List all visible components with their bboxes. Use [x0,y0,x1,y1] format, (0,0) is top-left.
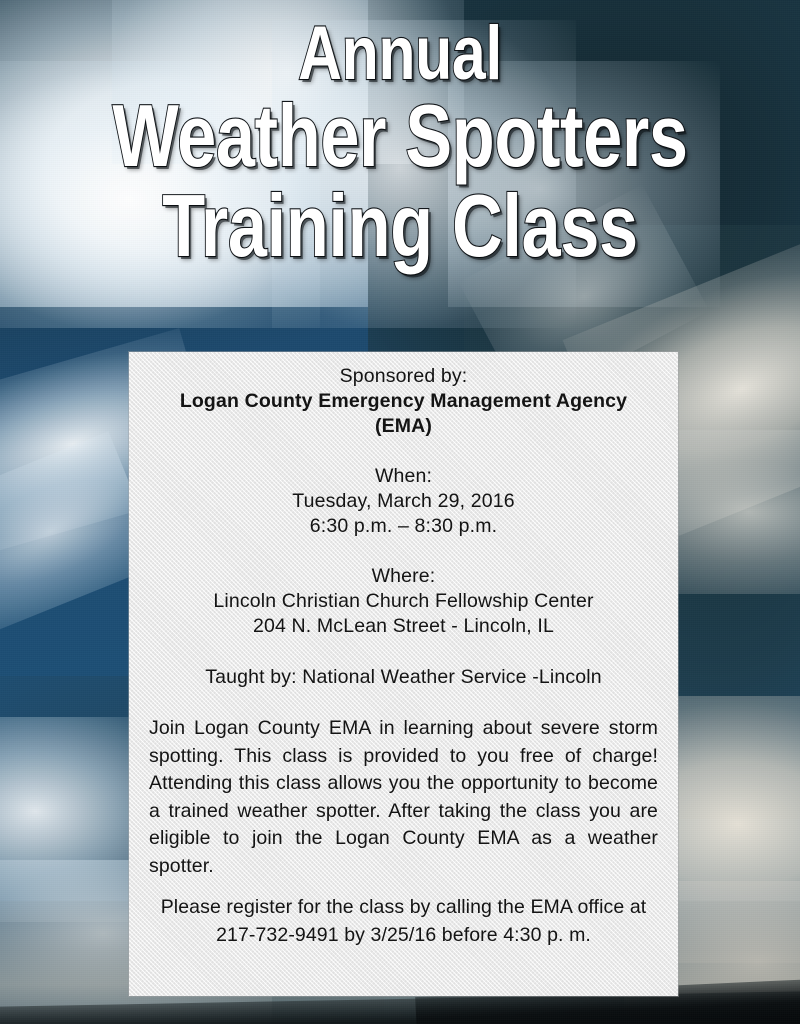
details-panel: Sponsored by: Logan County Emergency Man… [129,352,678,996]
title-line-2: Weather Spotters [80,94,720,178]
spacer-after-taught-by [147,690,660,715]
where-venue: Lincoln Christian Church Fellowship Cent… [147,589,660,614]
title-line-3: Training Class [80,184,720,268]
sponsor-abbreviation: (EMA) [147,414,660,439]
taught-by-line: Taught by: National Weather Service -Lin… [147,664,660,690]
spacer-before-register [147,880,660,894]
spacer-after-when [147,539,660,564]
flyer-page: Annual Weather Spotters Training Class S… [0,0,800,1024]
title-line-1: Annual [80,18,720,90]
spacer-after-where [147,639,660,664]
when-date: Tuesday, March 29, 2016 [147,489,660,514]
when-label: When: [147,464,660,489]
body-paragraph: Join Logan County EMA in learning about … [147,715,660,880]
when-time: 6:30 p.m. – 8:30 p.m. [147,514,660,539]
sponsored-by-label: Sponsored by: [147,364,660,389]
where-address: 204 N. McLean Street - Lincoln, IL [147,614,660,639]
spacer-after-sponsor [147,439,660,464]
where-label: Where: [147,564,660,589]
register-paragraph: Please register for the class by calling… [147,894,660,949]
sponsor-name: Logan County Emergency Management Agency [147,389,660,414]
page-title: Annual Weather Spotters Training Class [0,18,800,267]
